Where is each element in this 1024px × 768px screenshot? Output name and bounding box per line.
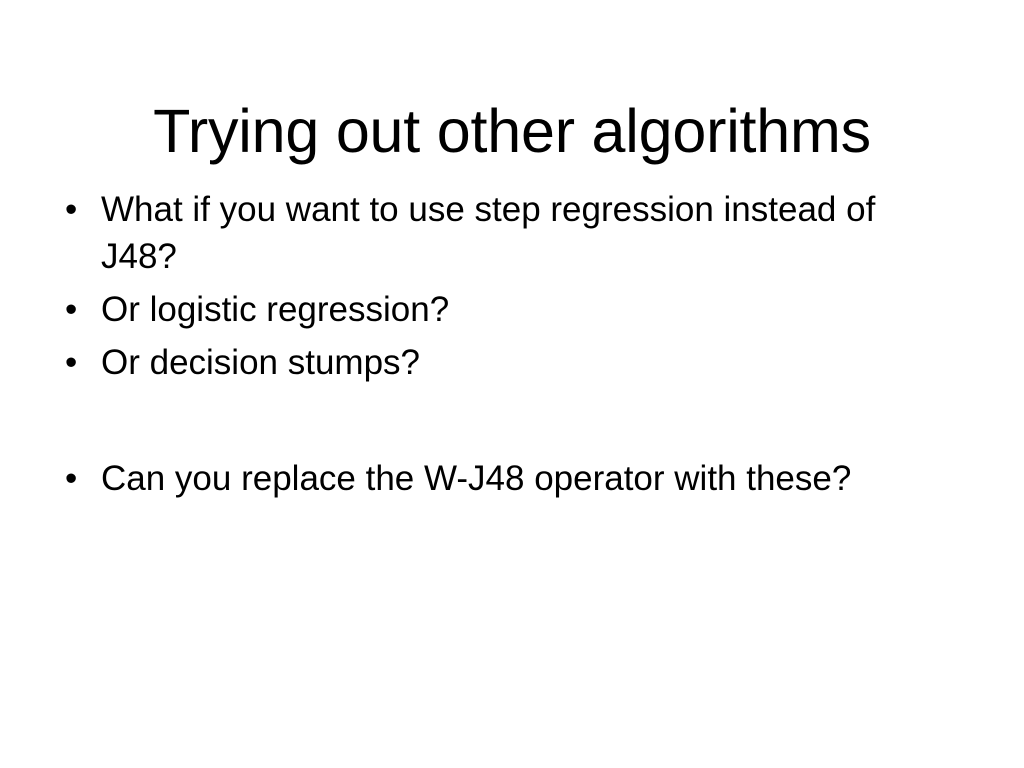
bullet-dot-icon: • bbox=[65, 455, 87, 502]
bullet-item-2[interactable]: • Or logistic regression? bbox=[57, 286, 937, 333]
bullet-item-text: Or decision stumps? bbox=[101, 339, 937, 386]
slide-content-body: • What if you want to use step regressio… bbox=[57, 186, 937, 508]
bullet-item-text: What if you want to use step regression … bbox=[101, 186, 937, 280]
slide-title: Trying out other algorithms bbox=[62, 99, 962, 165]
bullet-dot-icon: • bbox=[65, 286, 87, 333]
presentation-slide: Trying out other algorithms • What if yo… bbox=[0, 0, 1024, 768]
bullet-dot-icon: • bbox=[65, 339, 87, 386]
bullet-item-text: Can you replace the W-J48 operator with … bbox=[101, 455, 937, 502]
bullet-item-text: Or logistic regression? bbox=[101, 286, 937, 333]
bullet-item-3[interactable]: • Or decision stumps? bbox=[57, 339, 937, 386]
bullet-item-4[interactable]: • Can you replace the W-J48 operator wit… bbox=[57, 455, 937, 502]
bullet-item-1[interactable]: • What if you want to use step regressio… bbox=[57, 186, 937, 280]
bullet-dot-icon: • bbox=[65, 186, 87, 233]
bullet-list: • What if you want to use step regressio… bbox=[57, 186, 937, 502]
